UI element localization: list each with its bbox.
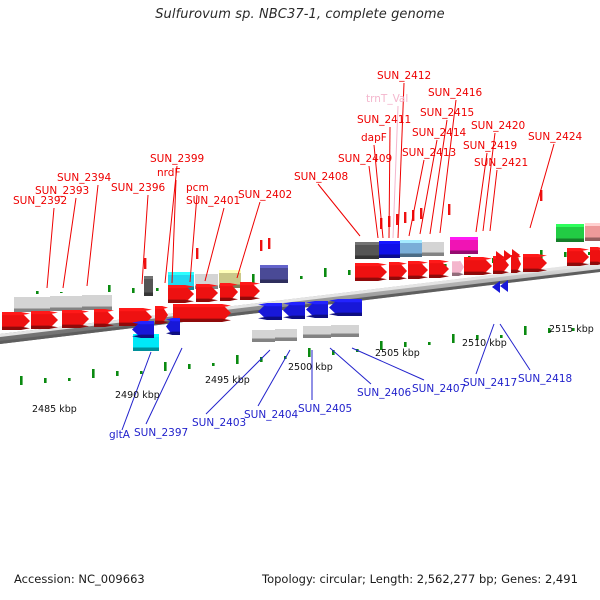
leader-line — [490, 170, 497, 231]
feature-tick — [308, 348, 311, 357]
gene-arrow-forward[interactable] — [567, 248, 589, 266]
feature-tick — [252, 274, 255, 283]
leader-line — [318, 184, 360, 236]
genome-stats-text: Topology: circular; Length: 2,562,277 bp… — [262, 572, 578, 586]
leader-line — [146, 348, 182, 424]
feature-tick — [44, 378, 47, 383]
feature-tick — [348, 270, 351, 275]
gene-arrow-forward[interactable] — [240, 282, 260, 300]
feature-tick — [92, 369, 95, 378]
genome-map-canvas — [0, 0, 600, 600]
gene-label-bottom[interactable]: SUN_2406 — [357, 388, 411, 399]
gene-arrow-forward[interactable] — [452, 258, 464, 276]
gene-label-top[interactable]: SUN_2408 — [294, 172, 348, 183]
feature-tick — [164, 362, 167, 371]
gene-box[interactable] — [400, 240, 422, 257]
leader-line — [190, 195, 197, 282]
leader-line — [530, 144, 554, 228]
gene-label-top[interactable]: SUN_2414 — [412, 128, 466, 139]
leader-line — [165, 166, 177, 283]
feature-tick — [68, 378, 71, 381]
gene-label-bottom[interactable]: SUN_2418 — [518, 374, 572, 385]
gene-label-top[interactable]: dapF — [361, 133, 387, 144]
ruler-label: 2505 kbp — [375, 348, 420, 359]
gene-box[interactable] — [450, 237, 478, 254]
feature-tick — [156, 288, 159, 291]
feature-tick — [524, 326, 527, 335]
gene-label-top[interactable]: pcm — [186, 183, 209, 194]
feature-tick-red — [420, 208, 422, 219]
gene-arrow-forward[interactable] — [590, 247, 600, 265]
gene-label-top[interactable]: SUN_2421 — [474, 158, 528, 169]
gene-label-top[interactable]: trnT_Val — [366, 94, 408, 105]
feature-tick — [116, 371, 119, 376]
gene-arrow-forward[interactable] — [429, 260, 449, 278]
gene-box[interactable] — [379, 241, 400, 258]
gene-label-top[interactable]: SUN_2419 — [463, 141, 517, 152]
ruler-label: 2515 kbp — [549, 324, 594, 335]
feature-tick — [132, 288, 135, 293]
gene-label-top[interactable]: SUN_2401 — [186, 196, 240, 207]
leader-line — [258, 350, 290, 406]
gene-box[interactable] — [303, 323, 331, 338]
feature-tick-red — [396, 214, 398, 225]
leader-line — [87, 185, 98, 286]
feature-tick — [188, 364, 191, 369]
leader-line — [63, 198, 76, 288]
gene-arrow-forward[interactable] — [408, 261, 428, 279]
gene-label-top[interactable]: nrdF — [157, 168, 181, 179]
feature-tick — [20, 376, 23, 385]
gene-box[interactable] — [50, 293, 82, 311]
leader-line — [47, 208, 54, 288]
gene-arrow-forward[interactable] — [389, 262, 407, 280]
gene-box[interactable] — [144, 276, 153, 296]
gene-boxes[interactable] — [14, 223, 600, 351]
gene-label-top[interactable]: SUN_2393 — [35, 186, 89, 197]
gene-box[interactable] — [331, 322, 359, 337]
gene-label-bottom[interactable]: SUN_2405 — [298, 404, 352, 415]
leader-line — [476, 324, 494, 374]
gene-label-bottom[interactable]: SUN_2417 — [463, 378, 517, 389]
gene-label-bottom[interactable]: SUN_2397 — [134, 428, 188, 439]
feature-tick-red — [260, 240, 262, 251]
ruler-label: 2490 kbp — [115, 390, 160, 401]
gene-arrow-forward[interactable] — [355, 263, 387, 281]
gene-box[interactable] — [82, 292, 112, 310]
gene-arrow-mini[interactable] — [504, 250, 512, 262]
gene-label-top[interactable]: SUN_2420 — [471, 121, 525, 132]
feature-tick — [236, 355, 239, 364]
gene-box[interactable] — [260, 265, 288, 283]
gene-box[interactable] — [556, 224, 584, 242]
gene-label-top[interactable]: SUN_2402 — [238, 190, 292, 201]
gene-box[interactable] — [585, 223, 600, 241]
gene-box[interactable] — [355, 242, 379, 259]
gene-box[interactable] — [275, 326, 297, 341]
leader-line — [398, 83, 404, 238]
gene-label-top[interactable]: SUN_2411 — [357, 115, 411, 126]
genome-map-viewer: Sulfurovum sp. NBC37-1, complete genome … — [0, 0, 600, 600]
leader-line — [142, 195, 148, 284]
gene-label-bottom[interactable]: SUN_2407 — [412, 384, 466, 395]
gene-label-top[interactable]: SUN_2415 — [420, 108, 474, 119]
gene-label-top[interactable]: SUN_2424 — [528, 132, 582, 143]
gene-label-top[interactable]: SUN_2394 — [57, 173, 111, 184]
feature-tick-red — [144, 258, 146, 269]
feature-tick-red — [196, 248, 198, 259]
gene-arrow-forward[interactable] — [2, 312, 30, 330]
gene-arrow-forward[interactable] — [173, 304, 231, 322]
feature-tick-red — [404, 212, 406, 223]
ruler-label: 2495 kbp — [205, 375, 250, 386]
gene-box[interactable] — [14, 294, 50, 312]
feature-tick — [428, 342, 431, 345]
accession-text: Accession: NC_009663 — [14, 572, 145, 586]
feature-tick-red — [448, 204, 450, 215]
ruler-label: 2485 kbp — [32, 404, 77, 415]
feature-tick-red — [268, 238, 270, 249]
gene-box[interactable] — [252, 327, 275, 342]
gene-label-top[interactable]: SUN_2396 — [111, 183, 165, 194]
feature-tick — [404, 342, 407, 347]
feature-tick — [452, 334, 455, 343]
gene-label-top[interactable]: SUN_2399 — [150, 154, 204, 165]
feature-tick — [212, 363, 215, 366]
ruler-label: 2510 kbp — [462, 338, 507, 349]
gene-arrow-forward[interactable] — [464, 257, 492, 275]
feature-tick — [300, 276, 303, 279]
gene-label-top[interactable]: SUN_2413 — [402, 148, 456, 159]
gene-label-top[interactable]: SUN_2392 — [13, 196, 67, 207]
ruler-label: 2500 kbp — [288, 362, 333, 373]
gene-label-bottom[interactable]: SUN_2403 — [192, 418, 246, 429]
gene-label-bottom[interactable]: gltA — [109, 430, 130, 441]
gene-arrow-forward[interactable] — [31, 311, 58, 329]
feature-tick — [324, 268, 327, 277]
leader-line — [237, 202, 260, 278]
feature-tick — [140, 371, 143, 374]
gene-box[interactable] — [422, 239, 444, 256]
gene-label-top[interactable]: SUN_2416 — [428, 88, 482, 99]
gene-label-top[interactable]: SUN_2412 — [377, 71, 431, 82]
gene-label-top[interactable]: SUN_2409 — [338, 154, 392, 165]
gene-label-bottom[interactable]: SUN_2404 — [244, 410, 298, 421]
feature-tick — [564, 252, 567, 257]
